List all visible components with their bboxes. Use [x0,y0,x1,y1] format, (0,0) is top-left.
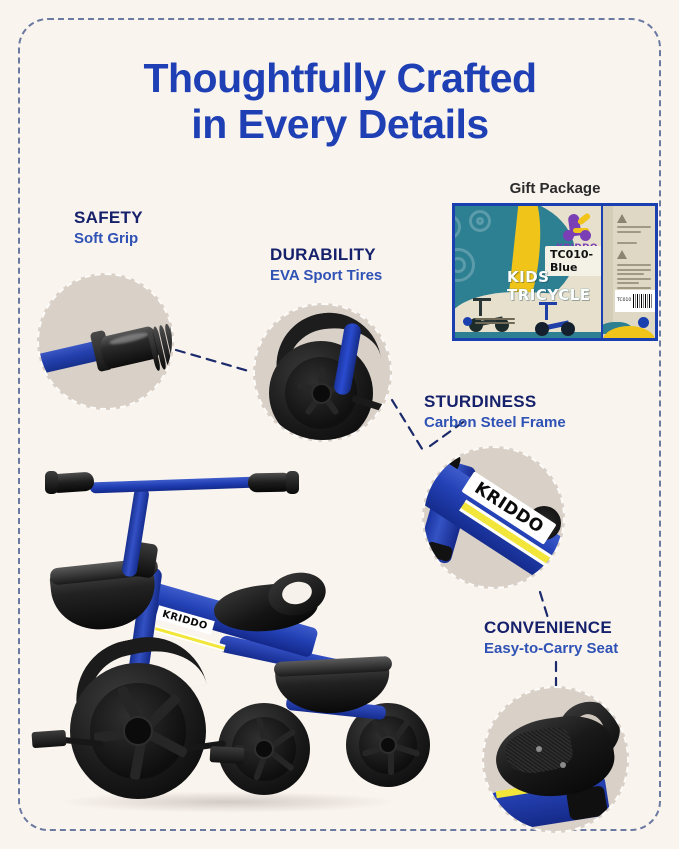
callout-safety-title: SAFETY [74,208,143,228]
leader-grip-to-tire [176,350,252,372]
kriddo-trike-logo-icon [557,214,597,242]
box-barcode-label: TC010 [615,290,655,312]
box-side-blue-dot [638,317,649,328]
detail-circle-eva-tire [253,303,392,442]
callout-convenience-title: CONVENIENCE [484,618,618,638]
box-wheel-pattern-icon [455,248,475,282]
callout-durability: DURABILITY EVA Sport Tires [270,245,382,284]
page-title-line-1: Thoughtfully Crafted [143,55,536,101]
callout-durability-title: DURABILITY [270,245,382,265]
leader-tire-to-frame [392,400,424,452]
left-pedal [31,730,66,748]
box-bullet-dot-icon [463,317,472,326]
detail-circle-steel-frame: KRIDDO [422,446,565,589]
infographic-canvas: Thoughtfully Crafted in Every Details SA… [0,0,679,849]
product-shadow [58,791,398,813]
box-fineprint [463,317,515,326]
box-side-text-lines [617,226,651,235]
wheel-tire-icon [255,305,390,440]
callout-safety-subtitle: Soft Grip [74,230,143,247]
barcode-icon [633,294,653,308]
page-title: Thoughtfully Crafted in Every Details [40,56,640,148]
box-wheel-pattern-icon [455,214,461,240]
box-product-name: KIDS TRICYCLE [507,268,607,304]
box-side-panel: TC010 [601,206,655,338]
leader-frame-to-seat [540,592,548,618]
callout-sturdiness-subtitle: Carbon Steel Frame [424,414,566,431]
callout-safety: SAFETY Soft Grip [74,208,143,247]
barcode-sku-line-1: TC010 [617,298,631,304]
callout-convenience: CONVENIENCE Easy-to-Carry Seat [484,618,618,657]
right-grip-end-cap [286,471,299,494]
front-wheel [70,663,206,799]
box-side-text-lines [617,242,651,247]
box-front-panel: KRIDDO TC010-Blue KIDS TRICYCLE [455,206,607,338]
warning-triangle-icon [617,250,627,259]
gift-package-box-image: KRIDDO TC010-Blue KIDS TRICYCLE [452,203,658,341]
right-pedal [210,746,245,764]
box-trike-photo-blue [533,302,579,336]
handlebar-grip-icon [39,275,172,408]
callout-sturdiness-title: STURDINESS [424,392,566,412]
callout-durability-subtitle: EVA Sport Tires [270,267,382,284]
detail-circle-soft-grip [37,273,174,410]
steel-frame-icon: KRIDDO [424,448,563,587]
tricycle-product-image: KRIDDO [18,455,418,825]
callout-convenience-subtitle: Easy-to-Carry Seat [484,640,618,657]
carry-seat-icon [484,688,627,831]
box-trike-photo-dark [467,298,513,332]
callout-sturdiness: STURDINESS Carbon Steel Frame [424,392,566,431]
box-fineprint-lines [475,318,515,326]
box-wheel-pattern-icon [469,210,491,232]
gift-package-section: Gift Package [452,180,658,341]
detail-circle-carry-seat [482,686,629,833]
box-side-fold [603,206,613,338]
page-title-line-2: in Every Details [40,102,640,148]
gift-package-title: Gift Package [452,180,658,197]
left-grip-end-cap [45,471,58,494]
warning-triangle-icon [617,214,627,223]
